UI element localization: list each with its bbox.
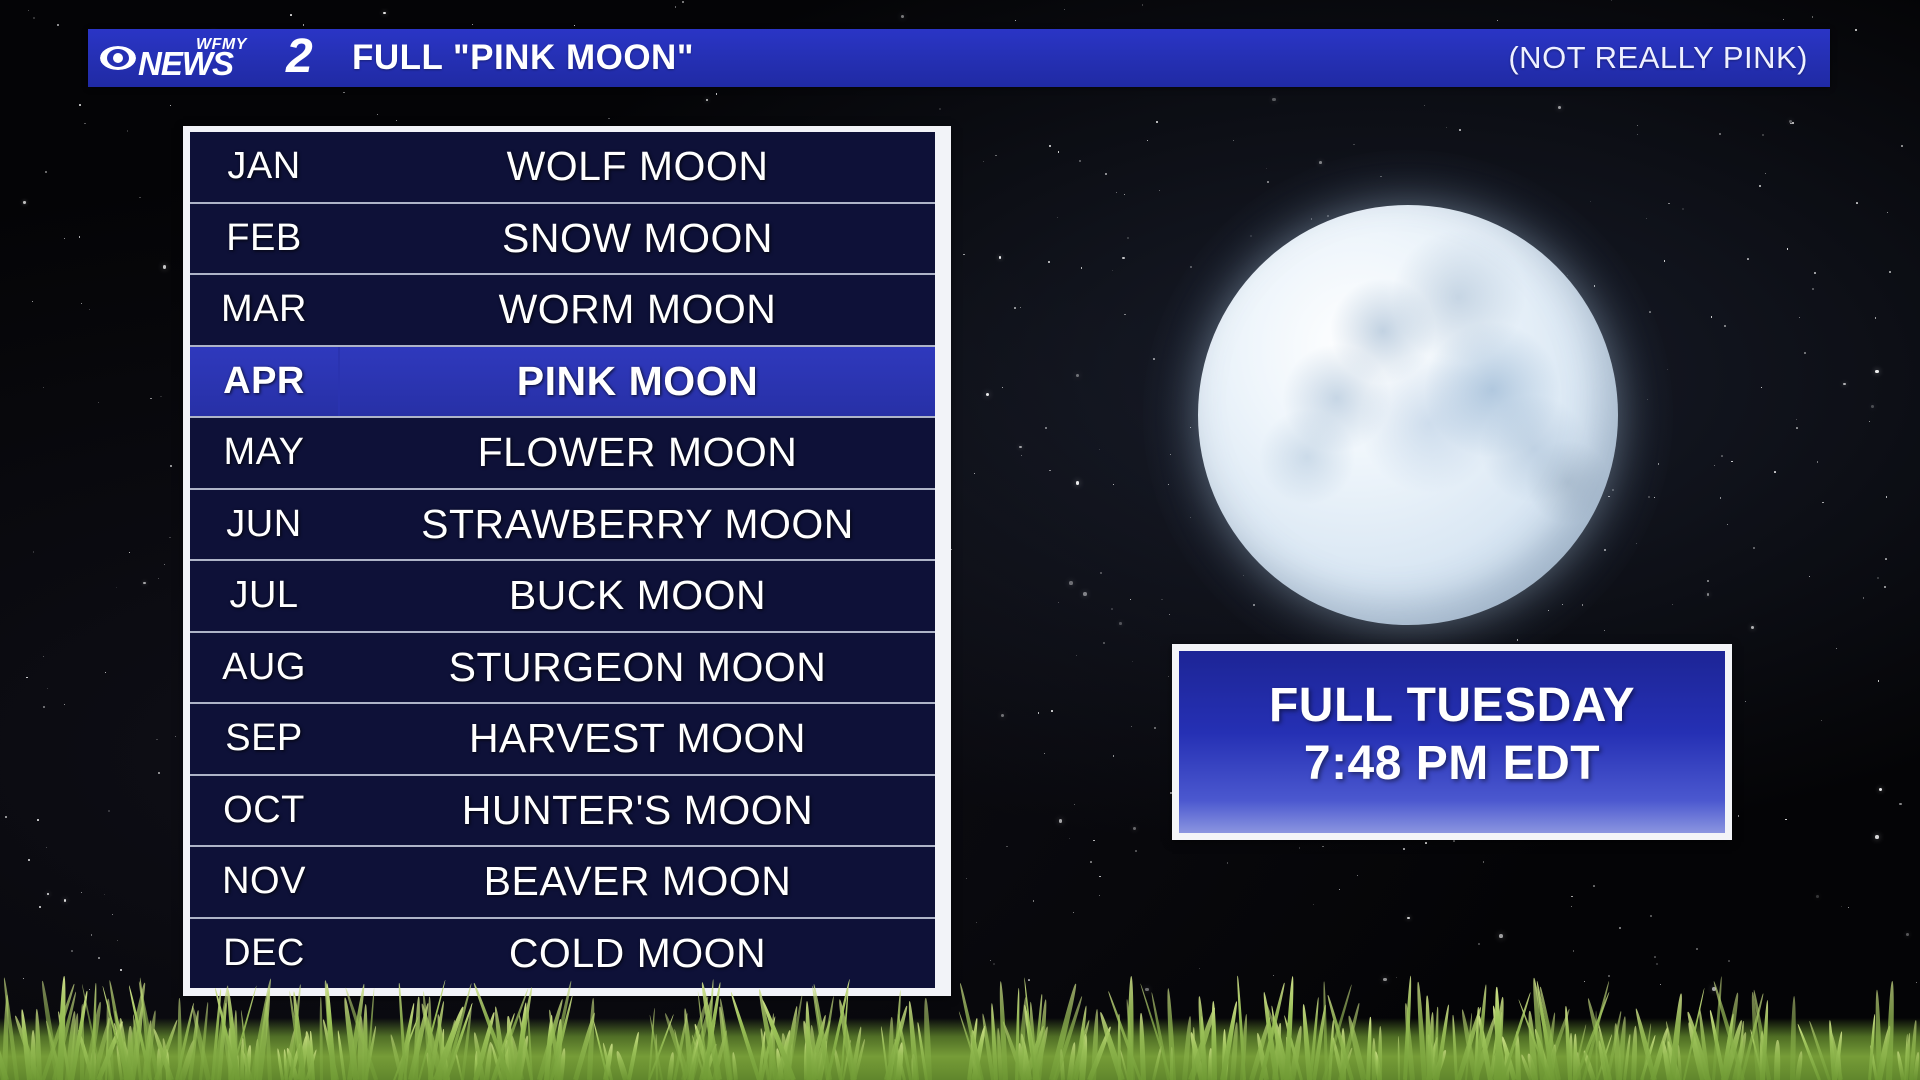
table-row: JUNSTRAWBERRY MOON [190,490,935,560]
station-logo-text: WFMY NEWS 2 [138,35,334,81]
cell-month: JUN [190,490,338,560]
cbs-eye-icon [100,46,136,70]
full-moon-graphic [1198,205,1618,625]
cell-month: NOV [190,847,338,917]
full-moon-time-box: FULL TUESDAY 7:48 PM EDT [1172,644,1732,840]
cell-moon-name: PINK MOON [340,347,935,417]
cell-month: MAY [190,418,338,488]
channel-number: 2 [286,33,313,81]
cell-month: JAN [190,132,338,202]
table-row: JULBUCK MOON [190,561,935,631]
cell-month: JUL [190,561,338,631]
table-row: AUGSTURGEON MOON [190,633,935,703]
table-row: APRPINK MOON [190,347,935,417]
table-row: FEBSNOW MOON [190,204,935,274]
moon-disc [1198,205,1618,625]
cell-moon-name: SNOW MOON [340,204,935,274]
table-row: JANWOLF MOON [190,132,935,202]
table-row: NOVBEAVER MOON [190,847,935,917]
banner-subtitle: (NOT REALLY PINK) [1508,40,1808,76]
cell-month: AUG [190,633,338,703]
table-row: DECCOLD MOON [190,919,935,989]
banner-title: FULL "PINK MOON" [352,38,694,78]
table-row: OCTHUNTER'S MOON [190,776,935,846]
cell-moon-name: BUCK MOON [340,561,935,631]
full-moon-names-table: JANWOLF MOONFEBSNOW MOONMARWORM MOONAPRP… [183,126,951,996]
cell-month: OCT [190,776,338,846]
full-moon-time: 7:48 PM EDT [1304,735,1600,793]
station-logo: WFMY NEWS 2 [88,29,340,87]
cell-moon-name: WOLF MOON [340,132,935,202]
cell-moon-name: STRAWBERRY MOON [340,490,935,560]
broadcast-graphic-stage: WFMY NEWS 2 FULL "PINK MOON" (NOT REALLY… [0,0,1920,1080]
full-moon-time-inner: FULL TUESDAY 7:48 PM EDT [1179,651,1725,833]
cell-month: DEC [190,919,338,989]
table-row: MARWORM MOON [190,275,935,345]
cell-month: FEB [190,204,338,274]
full-moon-day: FULL TUESDAY [1269,677,1635,735]
moon-limb-highlight [1198,205,1618,625]
cell-moon-name: BEAVER MOON [340,847,935,917]
cell-moon-name: HARVEST MOON [340,704,935,774]
cell-moon-name: STURGEON MOON [340,633,935,703]
headline-banner: WFMY NEWS 2 FULL "PINK MOON" (NOT REALLY… [88,29,1830,87]
table-row: SEPHARVEST MOON [190,704,935,774]
cell-month: MAR [190,275,338,345]
cell-moon-name: WORM MOON [340,275,935,345]
station-name: NEWS [138,47,233,80]
table-row: MAYFLOWER MOON [190,418,935,488]
table-body: JANWOLF MOONFEBSNOW MOONMARWORM MOONAPRP… [190,132,935,988]
cell-moon-name: HUNTER'S MOON [340,776,935,846]
cell-month: APR [190,347,338,417]
cell-moon-name: FLOWER MOON [340,418,935,488]
cell-month: SEP [190,704,338,774]
cell-moon-name: COLD MOON [340,919,935,989]
